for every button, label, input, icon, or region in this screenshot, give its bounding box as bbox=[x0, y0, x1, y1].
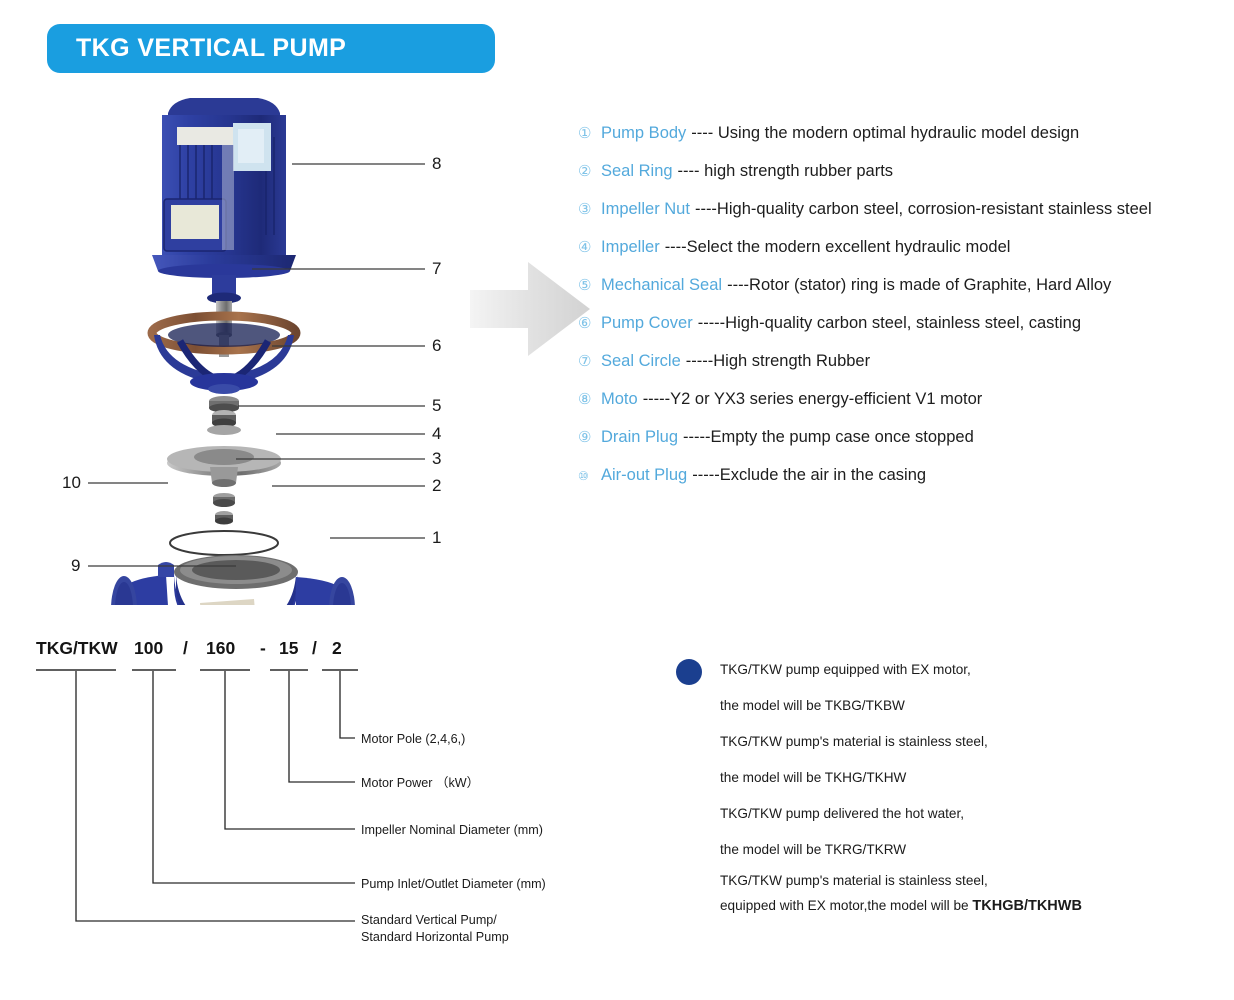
variant-line-6: the model will be TKRG/TKRW bbox=[676, 832, 1221, 868]
legend-description: -----Exclude the air in the casing bbox=[692, 466, 926, 485]
legend-part-name: Moto bbox=[601, 390, 638, 409]
callout-4: 4 bbox=[432, 424, 441, 444]
legend-number-icon: ⑧ bbox=[578, 392, 601, 407]
variant-line-7: TKG/TKW pump's material is stainless ste… bbox=[676, 868, 1221, 893]
leader-inlet-outlet bbox=[153, 671, 355, 883]
page-title: TKG VERTICAL PUMP bbox=[47, 34, 346, 63]
legend-part-name: Impeller Nut bbox=[601, 200, 690, 219]
code-segment-power: 15 bbox=[279, 638, 299, 658]
pump-spec-sheet: TKG VERTICAL PUMP bbox=[0, 0, 1234, 1000]
bullet-circle-icon bbox=[676, 659, 702, 685]
legend-item-8: ⑧ Moto -----Y2 or YX3 series energy-effi… bbox=[578, 390, 1228, 428]
callout-3: 3 bbox=[432, 449, 441, 469]
legend-number-icon: ⑤ bbox=[578, 278, 601, 293]
callout-9: 9 bbox=[71, 556, 80, 576]
callout-2: 2 bbox=[432, 476, 441, 496]
legend-description: -----High strength Rubber bbox=[686, 352, 870, 371]
legend-part-name: Pump Cover bbox=[601, 314, 693, 333]
variant-line-8-text: equipped with EX motor,the model will be bbox=[720, 898, 972, 913]
variant-model-code: TKHGB/TKHWB bbox=[972, 898, 1082, 914]
legend-item-2: ② Seal Ring ---- high strength rubber pa… bbox=[578, 162, 1228, 200]
leader-motor-pole bbox=[340, 671, 355, 738]
legend-number-icon: ③ bbox=[578, 202, 601, 217]
callout-6: 6 bbox=[432, 336, 441, 356]
legend-part-name: Seal Ring bbox=[601, 162, 673, 181]
variant-line-4: the model will be TKHG/TKHW bbox=[676, 760, 1221, 796]
part-seal-ring-graphic bbox=[170, 531, 278, 555]
model-variants-note: TKG/TKW pump equipped with EX motor, the… bbox=[676, 652, 1221, 918]
legend-item-6: ⑥ Pump Cover -----High-quality carbon st… bbox=[578, 314, 1228, 352]
callout-1: 1 bbox=[432, 528, 441, 548]
parts-legend: ① Pump Body ---- Using the modern optima… bbox=[578, 124, 1228, 504]
legend-number-icon: ④ bbox=[578, 240, 601, 255]
legend-description: ----Rotor (stator) ring is made of Graph… bbox=[727, 276, 1111, 295]
nomenclature-label-motor-power: Motor Power （kW） bbox=[361, 776, 479, 790]
nomenclature-label-motor-pole: Motor Pole (2,4,6,) bbox=[361, 732, 465, 746]
callout-8: 8 bbox=[432, 154, 441, 174]
nomenclature-label-inlet-outlet: Pump Inlet/Outlet Diameter (mm) bbox=[361, 877, 546, 891]
callout-10: 10 bbox=[62, 473, 81, 493]
legend-description: ----High-quality carbon steel, corrosion… bbox=[695, 200, 1152, 219]
legend-part-name: Pump Body bbox=[601, 124, 686, 143]
legend-description: -----Y2 or YX3 series energy-efficient V… bbox=[643, 390, 983, 409]
legend-item-3: ③ Impeller Nut ----High-quality carbon s… bbox=[578, 200, 1228, 238]
legend-number-icon: ⑦ bbox=[578, 354, 601, 369]
code-segment-impeller: 160 bbox=[206, 638, 235, 658]
legend-part-name: Impeller bbox=[601, 238, 660, 257]
code-separator-3: / bbox=[312, 638, 317, 658]
legend-number-icon: ⑥ bbox=[578, 316, 601, 331]
code-separator-2: - bbox=[260, 638, 266, 658]
legend-description: -----High-quality carbon steel, stainles… bbox=[698, 314, 1081, 333]
part-impeller-graphic bbox=[167, 446, 281, 487]
legend-number-icon: ① bbox=[578, 126, 601, 141]
code-segment-inlet: 100 bbox=[134, 638, 163, 658]
legend-part-name: Drain Plug bbox=[601, 428, 678, 447]
legend-description: ---- Using the modern optimal hydraulic … bbox=[691, 124, 1079, 143]
variant-line-5: TKG/TKW pump delivered the hot water, bbox=[676, 796, 1221, 832]
variant-line-1: TKG/TKW pump equipped with EX motor, bbox=[676, 652, 1221, 688]
legend-number-icon: ② bbox=[578, 164, 601, 179]
exploded-pump-diagram: 8 7 6 5 4 3 2 1 10 9 bbox=[40, 85, 510, 605]
leader-impeller-diameter bbox=[225, 671, 355, 829]
legend-part-name: Mechanical Seal bbox=[601, 276, 722, 295]
variant-line-8: equipped with EX motor,the model will be… bbox=[676, 893, 1221, 918]
legend-description: ---- high strength rubber parts bbox=[678, 162, 894, 181]
nomenclature-label-horizontal-pump: Standard Horizontal Pump bbox=[361, 930, 509, 944]
nomenclature-label-impeller-dia: Impeller Nominal Diameter (mm) bbox=[361, 823, 543, 837]
legend-item-7: ⑦ Seal Circle -----High strength Rubber bbox=[578, 352, 1228, 390]
page-title-banner: TKG VERTICAL PUMP bbox=[47, 24, 495, 73]
part-pump-body-graphic bbox=[111, 555, 355, 605]
leader-motor-power bbox=[289, 671, 355, 782]
variant-line-2: the model will be TKBG/TKBW bbox=[676, 688, 1221, 724]
callout-5: 5 bbox=[432, 396, 441, 416]
variant-line-3: TKG/TKW pump's material is stainless ste… bbox=[676, 724, 1221, 760]
legend-item-10: ⑩ Air-out Plug -----Exclude the air in t… bbox=[578, 466, 1228, 504]
part-impeller-nut-graphic bbox=[213, 493, 235, 525]
flow-arrow-icon bbox=[466, 252, 596, 367]
legend-item-1: ① Pump Body ---- Using the modern optima… bbox=[578, 124, 1228, 162]
part-mechanical-seal-graphic bbox=[207, 396, 241, 435]
legend-number-icon: ⑨ bbox=[578, 430, 601, 445]
nomenclature-label-vertical-pump: Standard Vertical Pump/ bbox=[361, 913, 497, 927]
code-segment-series: TKG/TKW bbox=[36, 638, 118, 658]
legend-description: ----Select the modern excellent hydrauli… bbox=[665, 238, 1011, 257]
legend-item-9: ⑨ Drain Plug -----Empty the pump case on… bbox=[578, 428, 1228, 466]
callout-lines-left bbox=[88, 483, 236, 566]
legend-description: -----Empty the pump case once stopped bbox=[683, 428, 974, 447]
legend-part-name: Seal Circle bbox=[601, 352, 681, 371]
legend-item-4: ④ Impeller ----Select the modern excelle… bbox=[578, 238, 1228, 276]
legend-part-name: Air-out Plug bbox=[601, 466, 687, 485]
callout-7: 7 bbox=[432, 259, 441, 279]
legend-number-icon: ⑩ bbox=[578, 470, 601, 482]
code-segment-pole: 2 bbox=[332, 638, 342, 658]
part-motor-graphic bbox=[152, 98, 296, 278]
model-code-nomenclature: TKG/TKW 100 / 160 - 15 / 2 Motor P bbox=[20, 630, 640, 960]
legend-item-5: ⑤ Mechanical Seal ----Rotor (stator) rin… bbox=[578, 276, 1228, 314]
code-separator-1: / bbox=[183, 638, 188, 658]
